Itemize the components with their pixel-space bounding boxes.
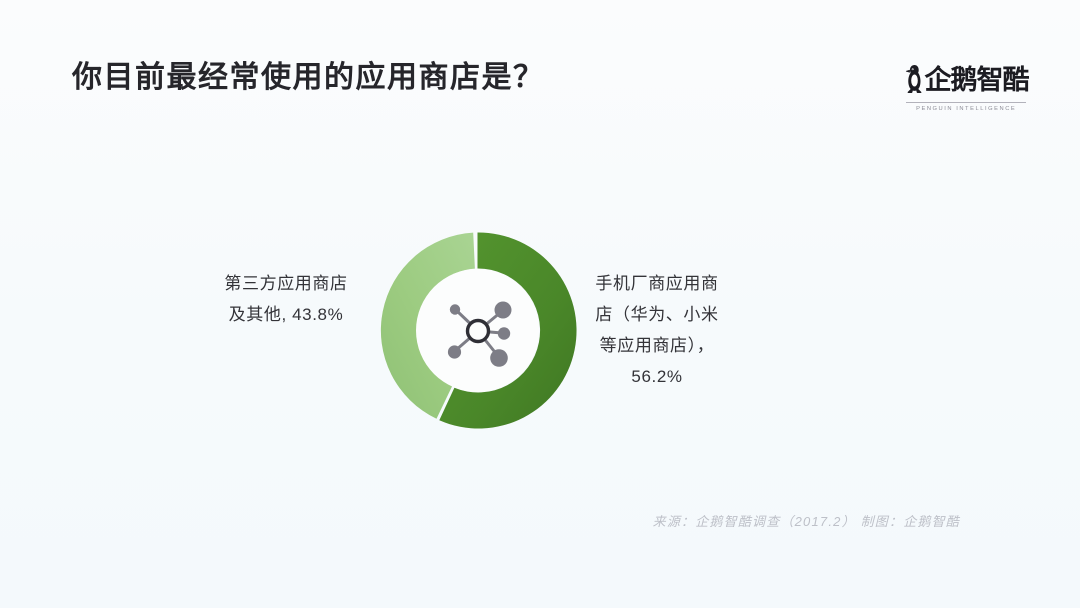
network-hub-icon bbox=[435, 288, 521, 374]
penguin-icon bbox=[904, 64, 924, 94]
chart-area: 第三方应用商店 及其他, 43.8% bbox=[0, 210, 1080, 460]
slice-label-third-party: 第三方应用商店 及其他, 43.8% bbox=[186, 268, 386, 330]
brand-mark: 企鹅智酷 bbox=[904, 52, 1029, 96]
donut-chart bbox=[375, 228, 580, 433]
source-note: 来源：企鹅智酷调查（2017.2） 制图：企鹅智酷 bbox=[653, 511, 960, 530]
slide-canvas: 你目前最经常使用的应用商店是？ 企鹅智酷 PENGUIN INTELLIGENC… bbox=[0, 0, 1080, 608]
slice-label-manufacturer: 手机厂商应用商 店（华为、小米 等应用商店）， 56.2% bbox=[574, 268, 740, 392]
page-title: 你目前最经常使用的应用商店是？ bbox=[72, 56, 1028, 100]
brand-logo: 企鹅智酷 PENGUIN INTELLIGENCE bbox=[900, 52, 1032, 124]
brand-name: 企鹅智酷 bbox=[925, 66, 1029, 96]
slide-header: 你目前最经常使用的应用商店是？ bbox=[72, 56, 1028, 126]
brand-subtitle: PENGUIN INTELLIGENCE bbox=[916, 106, 1016, 112]
brand-divider bbox=[906, 102, 1026, 103]
